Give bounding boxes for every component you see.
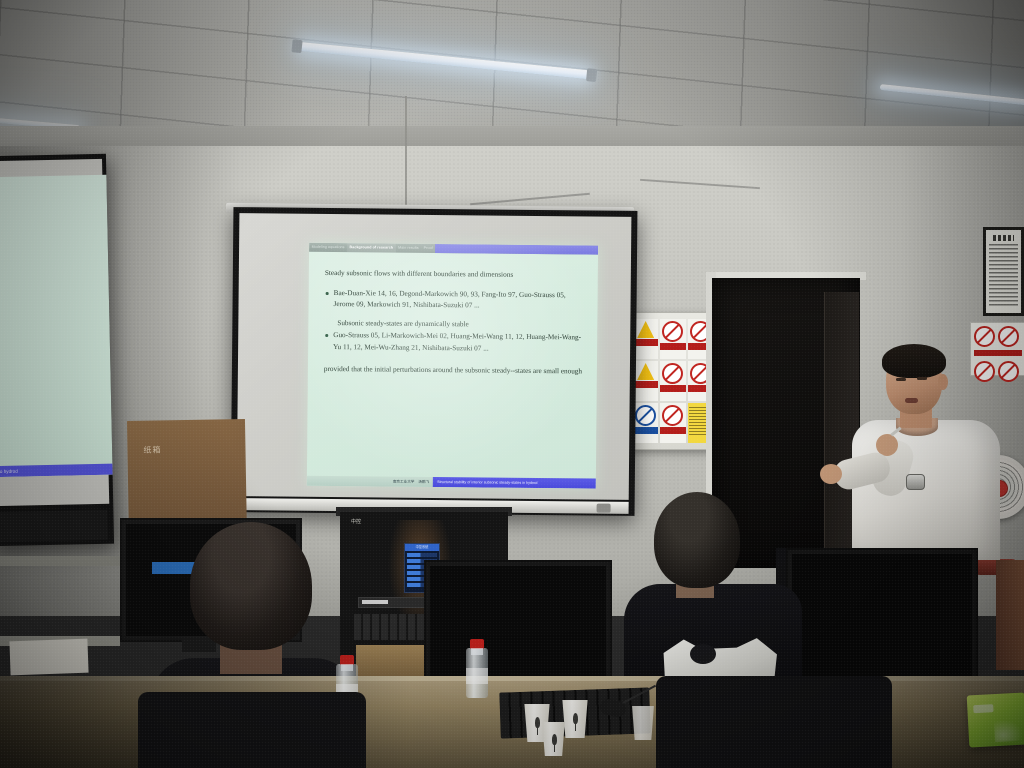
- cup-decoration: [535, 717, 540, 728]
- framed-notice: [983, 227, 1024, 316]
- safety-sign-warning-1: [633, 319, 658, 359]
- safety-sign-board: [628, 312, 718, 450]
- sign-caption: [660, 427, 685, 434]
- chair-left-front: [138, 692, 366, 768]
- projection-screen-surface: Modeling equations Background of researc…: [237, 213, 632, 500]
- monitor-center: Lenovo: [424, 560, 612, 692]
- notice-text-lines: [989, 244, 1018, 306]
- presenter: [858, 348, 990, 560]
- paper-stack-upper: [9, 639, 88, 676]
- notice-paper: [986, 230, 1021, 313]
- secondary-projection-screen: ns to 97, Suzuki g 11, bata- ady- -state…: [0, 154, 114, 547]
- bottle-neck: [471, 648, 483, 655]
- tube-end-cap-right: [586, 68, 597, 82]
- projection-screen-pull-knob: [597, 504, 611, 513]
- presenter-shirt: [852, 420, 1000, 560]
- screen-support-wire: [405, 96, 407, 208]
- secondary-screen-surface: ns to 97, Suzuki g 11, bata- ady- -state…: [0, 159, 109, 506]
- control-panel-title: 中控系统: [405, 544, 439, 551]
- info-circle-icon: [635, 405, 656, 426]
- tube-end-cap-left: [291, 39, 302, 53]
- sign-caption: [633, 381, 658, 388]
- safety-sign-warning-2: [633, 361, 658, 401]
- safety-sign-info: [633, 403, 658, 443]
- cup-decoration: [573, 713, 578, 724]
- presenter-ear: [938, 374, 948, 390]
- sign-row: [971, 323, 1024, 350]
- presenter-mouth: [905, 398, 918, 403]
- monitor-center-screen: [430, 566, 606, 686]
- podium-side-label: 中控: [348, 518, 364, 527]
- warning-icon: [998, 361, 1019, 382]
- tissue-pack-graphic: [994, 719, 1023, 742]
- warning-triangle-icon: [637, 321, 654, 338]
- sign-caption: [660, 385, 685, 392]
- bottle-neck: [341, 664, 353, 671]
- cardboard-label: 纸箱: [143, 444, 161, 455]
- safety-sign-no-crossing: [660, 403, 685, 443]
- presenter-hand-left: [820, 464, 842, 484]
- water-bottle-right: [466, 648, 488, 698]
- sign-caption: [633, 339, 658, 346]
- sign-caption: [633, 427, 658, 434]
- no-fire-icon: [998, 326, 1019, 347]
- control-panel-row[interactable]: [407, 553, 437, 557]
- presenter-hair: [882, 344, 946, 378]
- safety-sign-no-fire: [660, 319, 685, 359]
- projection-screen: Modeling equations Background of researc…: [231, 207, 638, 516]
- secondary-slide-footer-title: -states to hydrod: [0, 464, 113, 478]
- safety-sign-grid: [633, 319, 713, 443]
- tissue-pack: [967, 693, 1024, 748]
- chair-right-front: [656, 676, 892, 768]
- lecture-room-photo: Modeling equations Background of researc…: [0, 0, 1024, 768]
- no-fire-icon: [662, 321, 683, 342]
- wooden-cabinet: [996, 560, 1024, 670]
- sign-caption: [660, 343, 685, 350]
- secondary-slide: ns to 97, Suzuki g 11, bata- ady- -state…: [0, 175, 113, 480]
- audience-right-head: [654, 492, 740, 588]
- presenter-eye-left: [896, 378, 906, 381]
- no-smoking-icon: [974, 326, 995, 347]
- presentation-slide: Modeling equations Background of researc…: [307, 243, 598, 489]
- safety-sign-no-smoking: [660, 361, 685, 401]
- tissue-pack-band: [973, 704, 993, 713]
- presenter-eye-right: [917, 377, 927, 380]
- audience-left-head: [190, 522, 312, 650]
- warning-triangle-icon: [637, 363, 654, 380]
- presenter-wristwatch: [906, 474, 925, 490]
- bottle-label: [466, 668, 488, 684]
- secondary-screen-base: [0, 510, 108, 542]
- no-crossing-icon: [662, 405, 683, 426]
- plastic-bag-handle-hole: [690, 644, 716, 664]
- receiver-display: [362, 600, 388, 604]
- cup-decoration: [552, 734, 557, 745]
- monitor-right: [786, 548, 978, 688]
- monitor-right-screen: [792, 554, 972, 682]
- no-smoking-icon: [662, 363, 683, 384]
- slide-projection-glow: [307, 243, 598, 489]
- notice-title-block: [993, 235, 1014, 241]
